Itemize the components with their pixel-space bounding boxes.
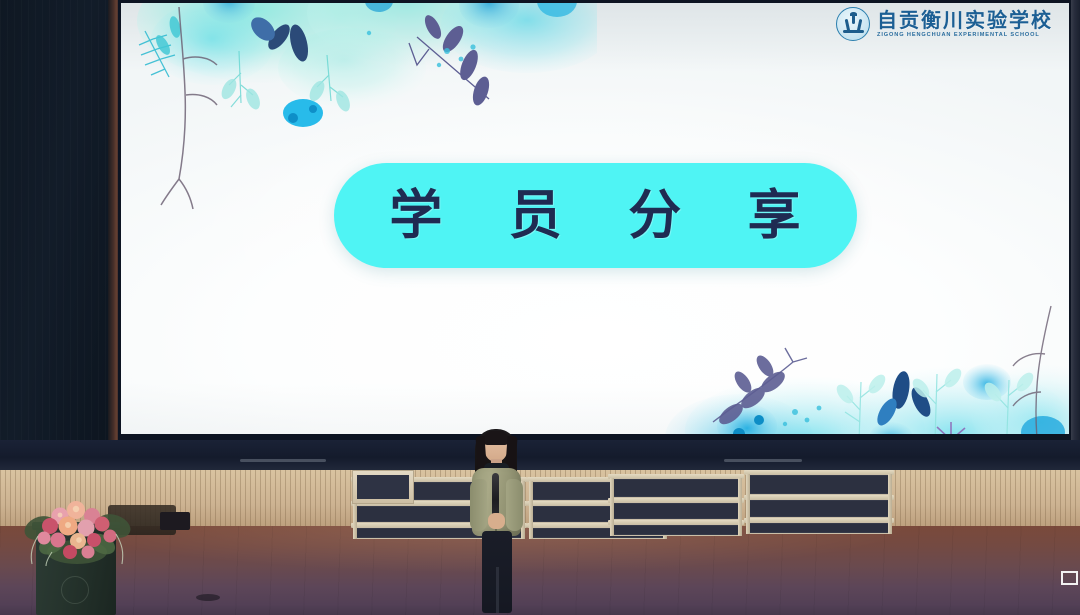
slide-title-text: 学 员 分 享 (365, 189, 824, 242)
floral-decor-bottom-right-icon (655, 262, 1069, 434)
presenter-figure (458, 427, 534, 615)
left-wall (0, 0, 122, 462)
school-emblem-icon (836, 7, 870, 41)
slide-title-pill: 学 员 分 享 (334, 163, 857, 268)
lectern (28, 498, 120, 615)
slide-title-container: 学 员 分 享 (121, 163, 1069, 268)
school-logo-text: 自贡衡川实验学校 ZIGONG HENGCHUAN EXPERIMENTAL S… (877, 10, 1053, 39)
choir-riser (744, 470, 894, 536)
under-screen-band (0, 440, 1080, 472)
microphone-icon (492, 473, 499, 517)
stage-speaker (160, 512, 190, 530)
flower-arrangement-icon (22, 494, 132, 566)
recording-frame-marker (1061, 571, 1078, 585)
projection-screen: 自贡衡川实验学校 ZIGONG HENGCHUAN EXPERIMENTAL S… (121, 3, 1069, 434)
wall-mounted-unit (352, 470, 414, 504)
auditorium-scene: 自贡衡川实验学校 ZIGONG HENGCHUAN EXPERIMENTAL S… (0, 0, 1080, 615)
school-name-cn: 自贡衡川实验学校 (877, 10, 1053, 31)
floor-marker (196, 594, 220, 601)
school-logo: 自贡衡川实验学校 ZIGONG HENGCHUAN EXPERIMENTAL S… (836, 7, 1053, 41)
choir-riser (608, 474, 744, 538)
school-name-en: ZIGONG HENGCHUAN EXPERIMENTAL SCHOOL (877, 32, 1053, 39)
projection-screen-frame: 自贡衡川实验学校 ZIGONG HENGCHUAN EXPERIMENTAL S… (118, 0, 1071, 440)
